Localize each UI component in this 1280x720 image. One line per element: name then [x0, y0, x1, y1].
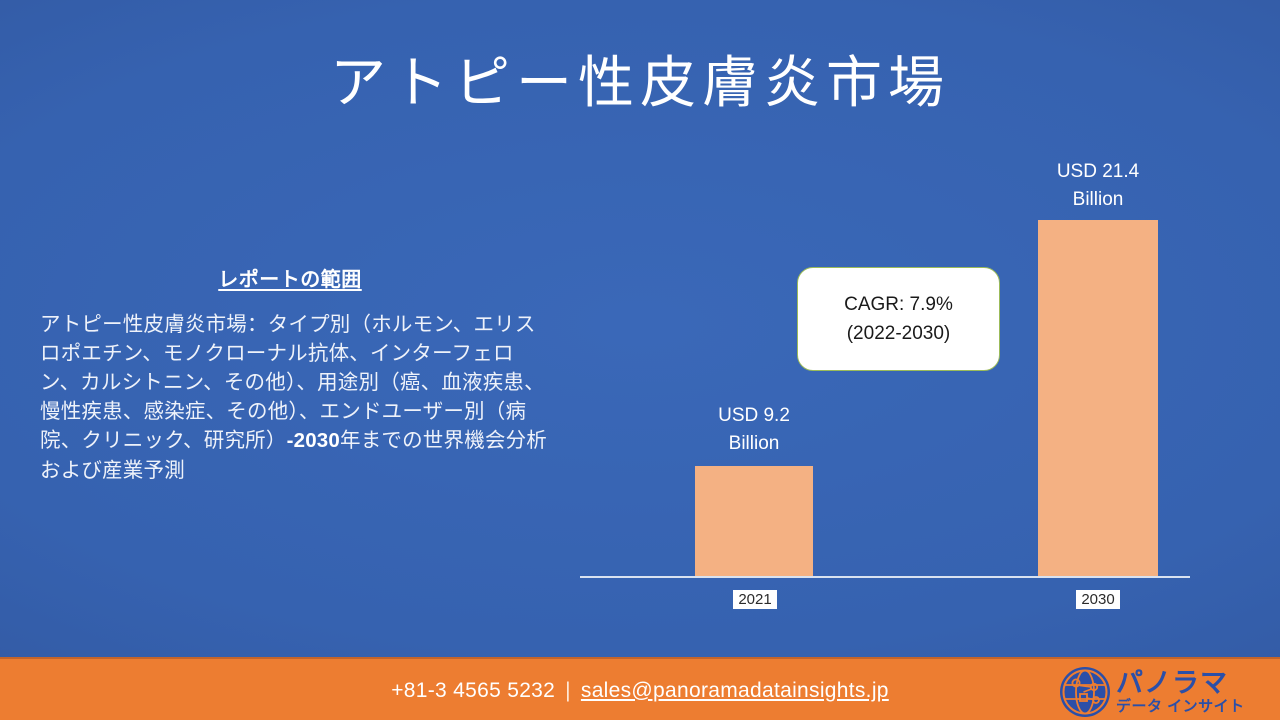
market-size-bar-chart: USD 9.2 Billion USD 21.4 Billion 2021 20…: [0, 0, 1280, 660]
footer-separator: |: [565, 679, 571, 703]
bar-2021: [695, 466, 813, 576]
footer-email-link[interactable]: sales@panoramadatainsights.jp: [581, 679, 889, 703]
bar-2030: [1038, 220, 1158, 576]
bar-value-line-2: Billion: [684, 430, 824, 458]
globe-network-icon: [1058, 665, 1112, 719]
logo-company-name: パノラマ: [1116, 670, 1245, 697]
company-logo: パノラマ データ インサイト: [1058, 663, 1274, 720]
bar-value-label-2030: USD 21.4 Billion: [1028, 158, 1168, 213]
footer-phone: +81-3 4565 5232: [391, 679, 555, 703]
cagr-value: CAGR: 7.9%: [844, 290, 953, 319]
axis-tick-label-2030: 2030: [1076, 590, 1120, 609]
logo-tagline: データ インサイト: [1116, 699, 1245, 714]
chart-axis-line: [580, 576, 1190, 578]
axis-tick-label-2021: 2021: [733, 590, 777, 609]
bar-value-line-1: USD 21.4: [1028, 158, 1168, 186]
cagr-period: (2022-2030): [847, 319, 951, 348]
slide-canvas: アトピー性皮膚炎市場 レポートの範囲 アトピー性皮膚炎市場：タイプ別（ホルモン、…: [0, 0, 1280, 720]
logo-wordmark: パノラマ データ インサイト: [1116, 670, 1245, 714]
footer-bar: +81-3 4565 5232 | sales@panoramadatainsi…: [0, 657, 1280, 720]
bar-value-line-1: USD 9.2: [684, 402, 824, 430]
bar-value-line-2: Billion: [1028, 186, 1168, 214]
cagr-callout: CAGR: 7.9% (2022-2030): [797, 267, 1000, 371]
bar-value-label-2021: USD 9.2 Billion: [684, 402, 824, 457]
